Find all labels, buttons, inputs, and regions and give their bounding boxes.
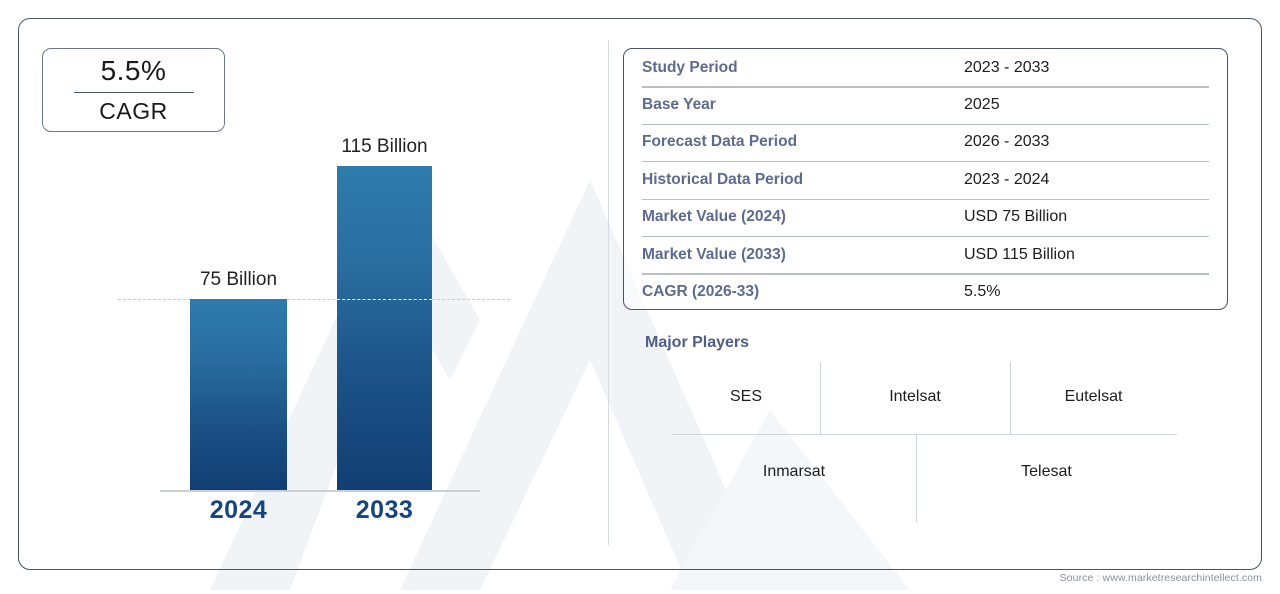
- source-attribution: Source : www.marketresearchintellect.com: [1060, 572, 1262, 584]
- table-row-value: 2025: [964, 96, 1000, 114]
- table-row-label: Market Value (2024): [642, 208, 964, 226]
- table-row-value: 2023 - 2024: [964, 171, 1049, 189]
- table-row-label: Study Period: [642, 59, 964, 77]
- table-row-label: Forecast Data Period: [642, 133, 964, 151]
- bar-value-label-2024: 75 Billion: [190, 269, 287, 291]
- table-row-label: Base Year: [642, 96, 964, 114]
- panel-divider: [608, 40, 609, 545]
- major-player-cell: Telesat: [916, 463, 1177, 481]
- table-row: Market Value (2033) USD 115 Billion: [642, 236, 1209, 273]
- major-players-grid: SES Intelsat Eutelsat Inmarsat Telesat: [672, 362, 1177, 522]
- major-player-cell: Eutelsat: [1010, 388, 1177, 406]
- market-summary-table: Study Period 2023 - 2033 Base Year 2025 …: [623, 48, 1228, 310]
- table-row: CAGR (2026-33) 5.5%: [642, 273, 1209, 310]
- table-row: Market Value (2024) USD 75 Billion: [642, 199, 1209, 236]
- cagr-value: 5.5%: [101, 57, 167, 92]
- table-row-label: Historical Data Period: [642, 171, 964, 189]
- major-players-heading: Major Players: [645, 334, 749, 352]
- table-row-value: USD 115 Billion: [964, 246, 1075, 264]
- major-player-cell: Inmarsat: [672, 463, 916, 481]
- bar-2033: [337, 166, 432, 490]
- table-row-value: 2023 - 2033: [964, 59, 1049, 77]
- table-row-value: USD 75 Billion: [964, 208, 1067, 226]
- chart-reference-line-overlay: [337, 299, 432, 300]
- table-row-value: 5.5%: [964, 283, 1000, 301]
- bar-category-label-2024: 2024: [190, 496, 287, 525]
- cagr-label: CAGR: [99, 93, 167, 123]
- grid-horizontal-line: [672, 434, 1177, 435]
- cagr-badge: 5.5% CAGR: [42, 48, 225, 132]
- table-row: Historical Data Period 2023 - 2024: [642, 161, 1209, 198]
- major-player-cell: Intelsat: [820, 388, 1010, 406]
- chart-baseline-axis: [160, 490, 480, 492]
- table-row: Base Year 2025: [642, 86, 1209, 123]
- major-player-cell: SES: [672, 388, 820, 406]
- bar-category-label-2033: 2033: [337, 496, 432, 525]
- bar-value-label-2033: 115 Billion: [337, 136, 432, 158]
- table-row: Study Period 2023 - 2033: [642, 49, 1209, 86]
- infographic-root: 5.5% CAGR 75 Billion 115 Billion 2024 20…: [0, 0, 1280, 594]
- table-row-label: CAGR (2026-33): [642, 283, 964, 301]
- chart-reference-line: [118, 299, 510, 300]
- table-row-value: 2026 - 2033: [964, 133, 1049, 151]
- bar-2024: [190, 299, 287, 490]
- table-row-label: Market Value (2033): [642, 246, 964, 264]
- bar-chart: 75 Billion 115 Billion 2024 2033: [40, 130, 600, 540]
- table-row: Forecast Data Period 2026 - 2033: [642, 124, 1209, 161]
